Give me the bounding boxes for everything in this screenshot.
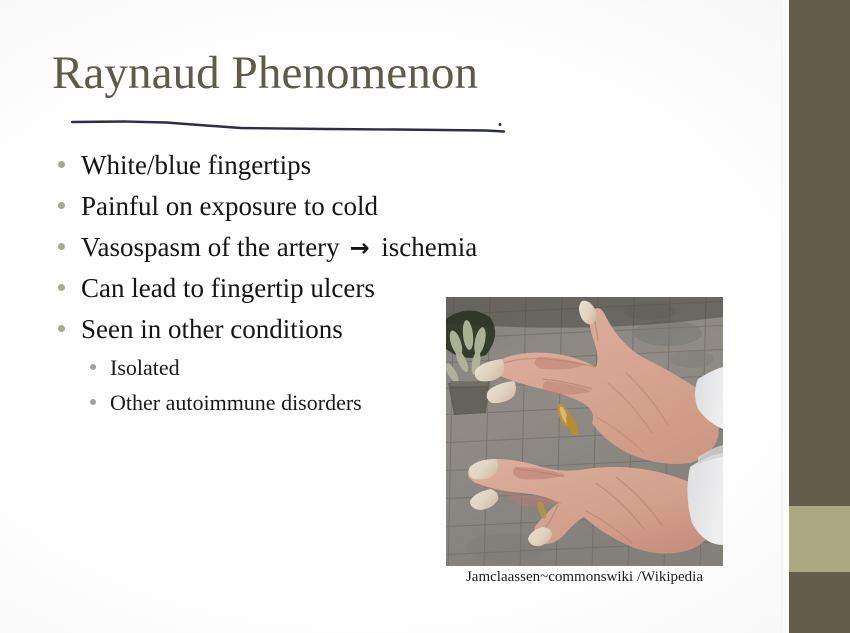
bullet-dot-icon: [58, 325, 65, 332]
list-item: Vasospasm of the artery → ischemia: [58, 234, 578, 275]
sub-bullet-dot-icon: [90, 399, 96, 405]
sidebar-band-khaki: [789, 506, 850, 572]
slide-canvas: Raynaud Phenomenon White/blue fingertips…: [0, 0, 850, 633]
sub-bullet-text: Isolated: [110, 357, 180, 379]
sidebar-band-dark-top: [789, 0, 850, 506]
bullet-text: Painful on exposure to cold: [81, 193, 378, 220]
list-item: White/blue fingertips: [58, 152, 578, 193]
right-arrow-icon: →: [346, 234, 374, 262]
bullet-text: Seen in other conditions: [81, 316, 343, 343]
sidebar-band-dark-bottom: [789, 572, 850, 633]
bullet-dot-icon: [58, 243, 65, 250]
slide-title: Raynaud Phenomenon: [52, 48, 478, 99]
bullet-text: Can lead to fingertip ulcers: [81, 275, 375, 302]
bullet-text: White/blue fingertips: [81, 152, 311, 179]
decorative-sidebar: [789, 0, 850, 633]
figure-caption: Jamclaassen~commonswiki /Wikipedia: [446, 569, 723, 586]
sidebar-edge-highlight: [781, 0, 789, 633]
sub-bullet-dot-icon: [90, 364, 96, 370]
photo-image: [446, 297, 723, 566]
bullet-text-after-arrow: ischemia: [375, 232, 478, 262]
bullet-dot-icon: [58, 202, 65, 209]
bullet-text-before-arrow: Vasospasm of the artery: [81, 232, 346, 262]
title-underline-annotation: [66, 112, 510, 138]
figure-hands-photo: [446, 297, 723, 566]
sub-bullet-text: Other autoimmune disorders: [110, 392, 362, 414]
hands-illustration: [446, 297, 723, 566]
bullet-dot-icon: [58, 161, 65, 168]
bullet-text: Vasospasm of the artery → ischemia: [81, 234, 477, 261]
list-item: Painful on exposure to cold: [58, 193, 578, 234]
bullet-dot-icon: [58, 284, 65, 291]
